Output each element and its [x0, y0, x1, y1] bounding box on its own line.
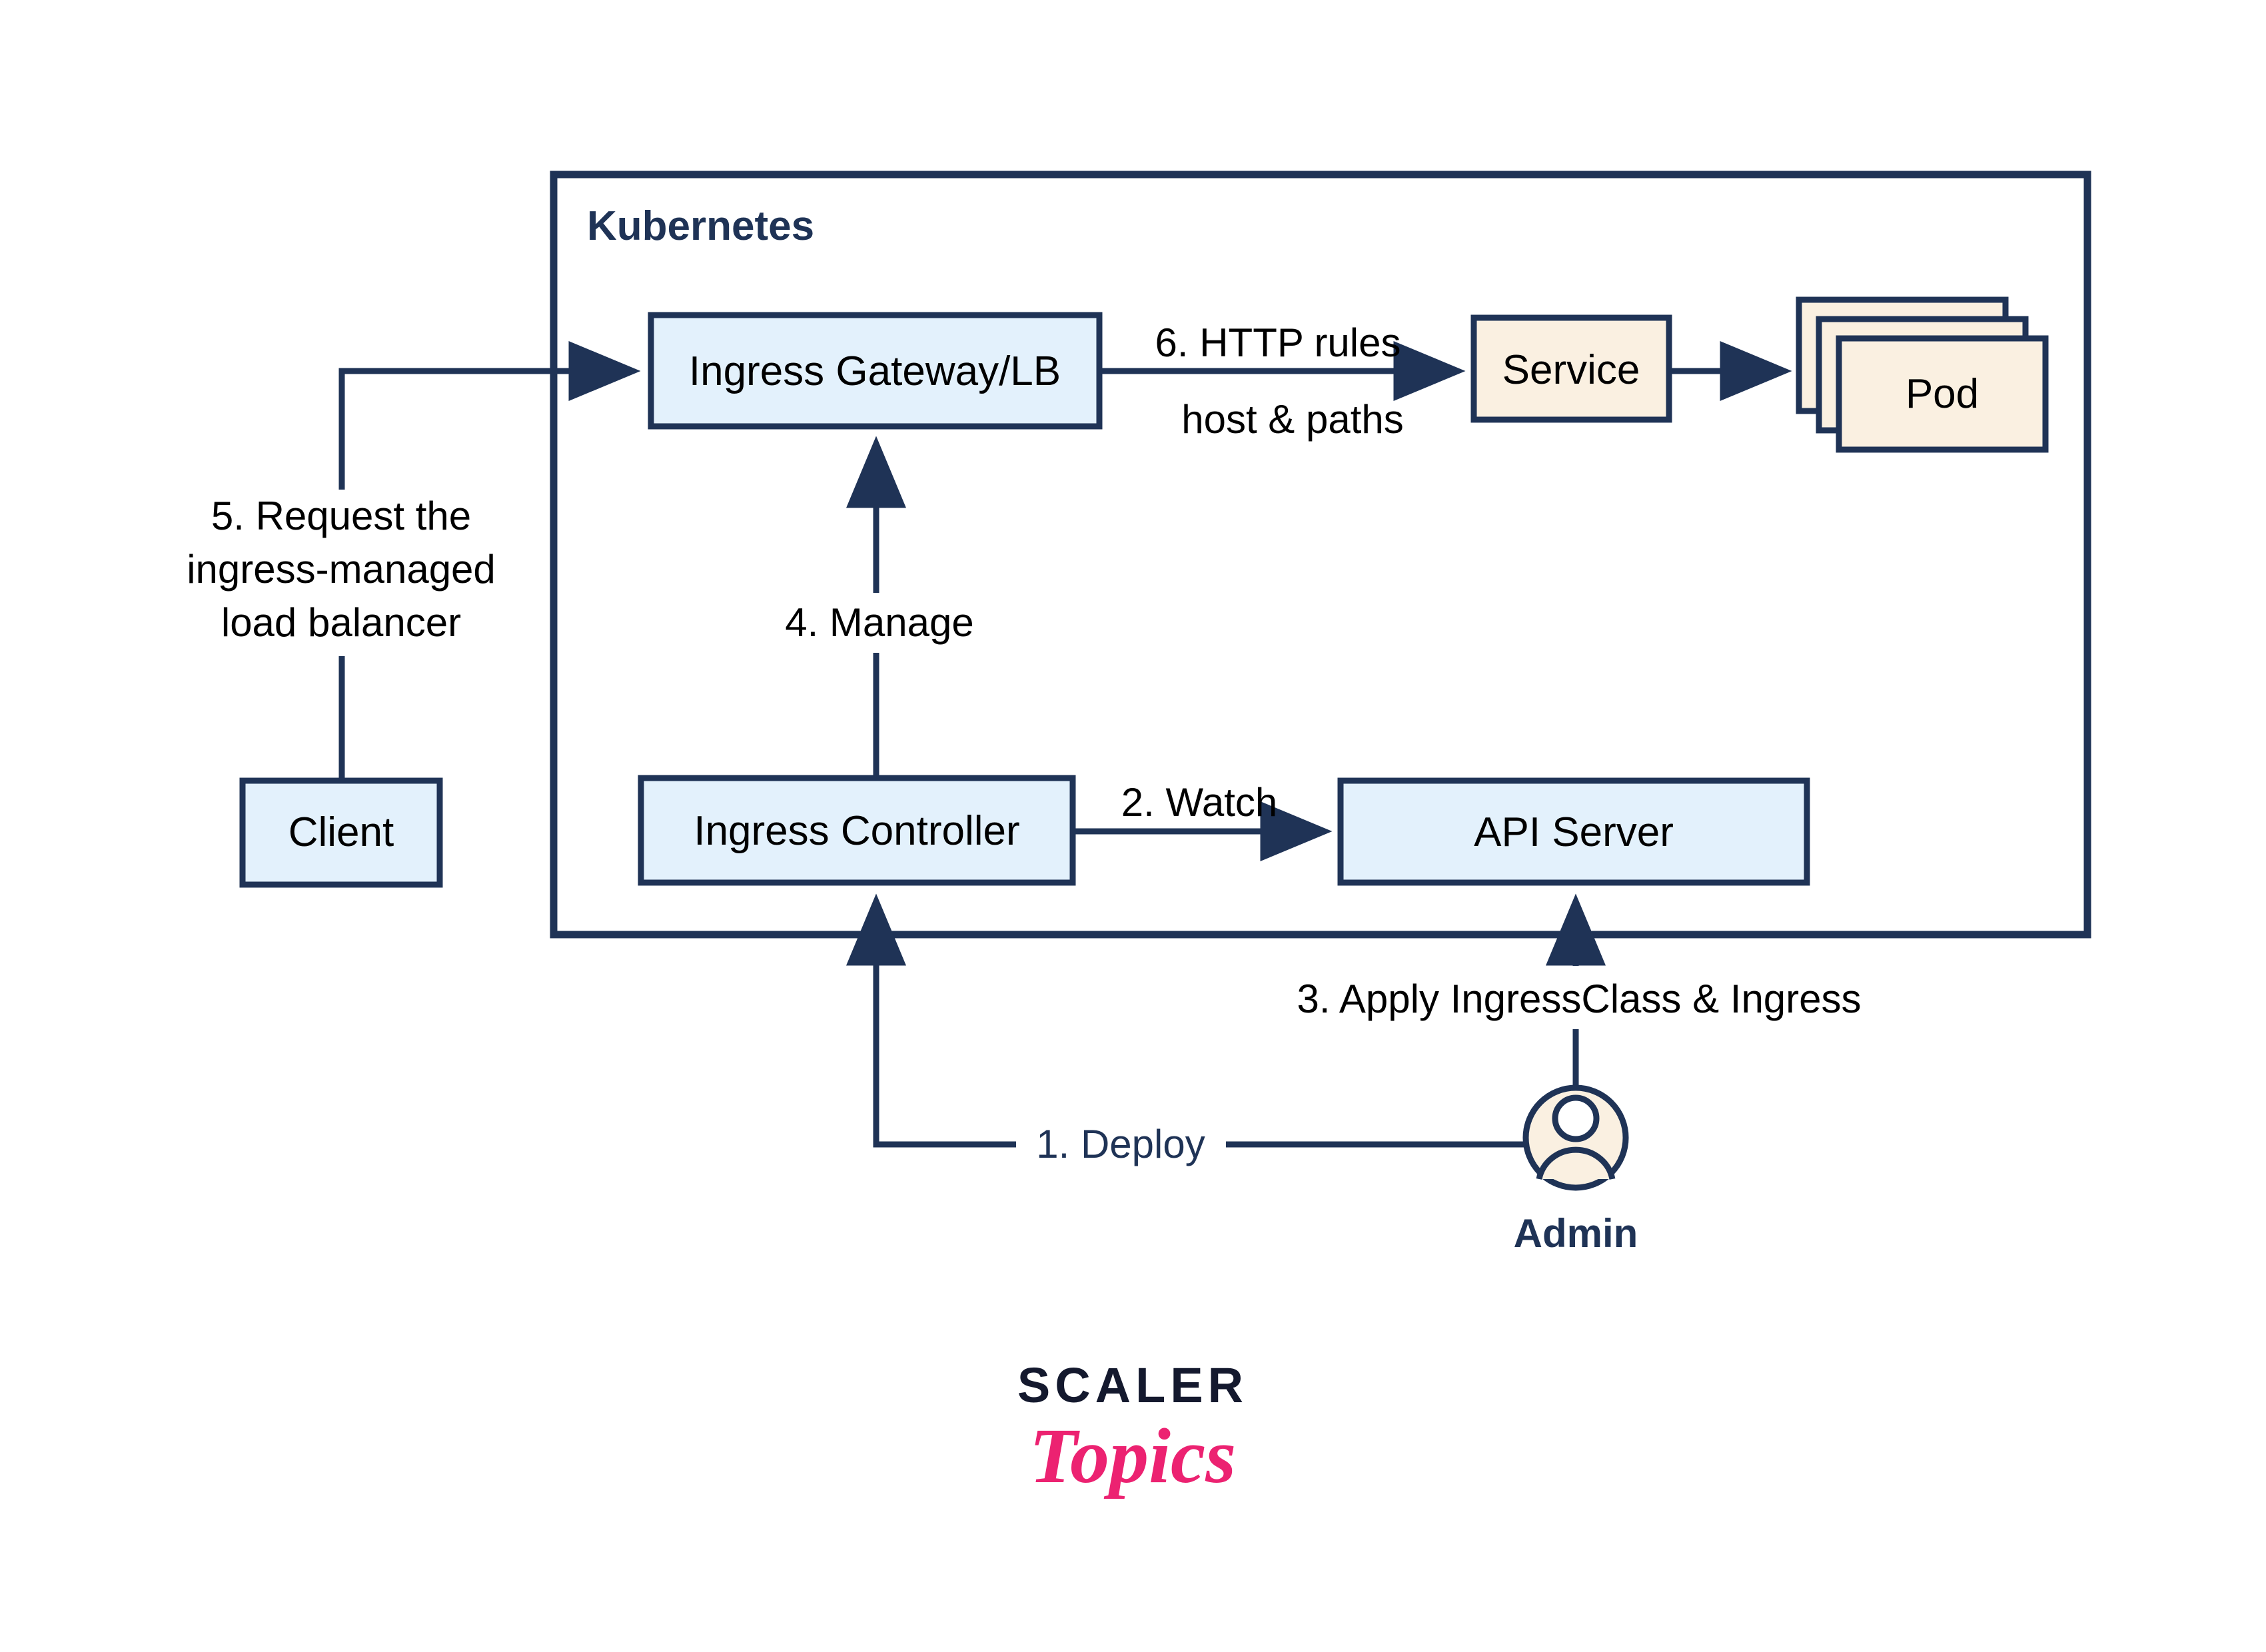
node-service[interactable]: Service	[1474, 318, 1669, 420]
edge-label-http-rules-line1: 6. HTTP rules	[1155, 320, 1401, 365]
edge-label-request: 5. Request the ingress-managed load bala…	[163, 490, 523, 656]
node-pod[interactable]: Pod	[1799, 300, 2045, 450]
kubernetes-ingress-diagram: Kubernetes Ingress Gateway/LB Service	[0, 0, 2266, 1652]
node-ingress-gateway-label: Ingress Gateway/LB	[689, 348, 1061, 394]
node-pod-label: Pod	[1906, 371, 1979, 417]
logo-scaler-wordmark: SCALER	[1017, 1358, 1248, 1413]
edge-label-manage-text: 4. Manage	[785, 600, 974, 645]
edge-label-request-line1: 5. Request the	[211, 494, 471, 538]
node-ingress-controller[interactable]: Ingress Controller	[641, 778, 1073, 883]
edge-label-apply: 3. Apply IngressClass & Ingress	[1293, 966, 1866, 1029]
node-admin-label: Admin	[1514, 1211, 1638, 1256]
edge-label-apply-text: 3. Apply IngressClass & Ingress	[1297, 977, 1861, 1021]
edge-label-deploy: 1. Deploy	[1016, 1111, 1226, 1174]
node-ingress-gateway[interactable]: Ingress Gateway/LB	[651, 315, 1099, 426]
edge-label-manage: 4. Manage	[770, 593, 989, 653]
node-client[interactable]: Client	[243, 781, 440, 885]
edge-label-request-line3: load balancer	[221, 600, 461, 645]
node-service-label: Service	[1502, 347, 1640, 393]
node-ingress-controller-label: Ingress Controller	[694, 808, 1019, 854]
scaler-topics-logo: SCALER Topics	[1017, 1358, 1248, 1499]
node-client-label: Client	[288, 809, 394, 855]
edge-label-request-line2: ingress-managed	[187, 547, 496, 592]
edge-label-watch: 2. Watch	[1121, 780, 1278, 825]
edge-label-http-rules: 6. HTTP rules host & paths	[1155, 320, 1404, 442]
edge-label-deploy-text: 1. Deploy	[1036, 1122, 1205, 1166]
logo-topics-script: Topics	[1029, 1412, 1236, 1499]
kubernetes-group-title: Kubernetes	[587, 203, 814, 249]
node-api-server[interactable]: API Server	[1341, 781, 1807, 883]
diagram-canvas: Kubernetes Ingress Gateway/LB Service	[0, 0, 2266, 1652]
node-api-server-label: API Server	[1474, 809, 1674, 855]
node-admin[interactable]: Admin	[1514, 1088, 1638, 1256]
edge-label-http-rules-line2: host & paths	[1181, 397, 1404, 442]
edge-label-watch-text: 2. Watch	[1121, 780, 1278, 825]
admin-avatar-head-icon	[1555, 1098, 1596, 1139]
